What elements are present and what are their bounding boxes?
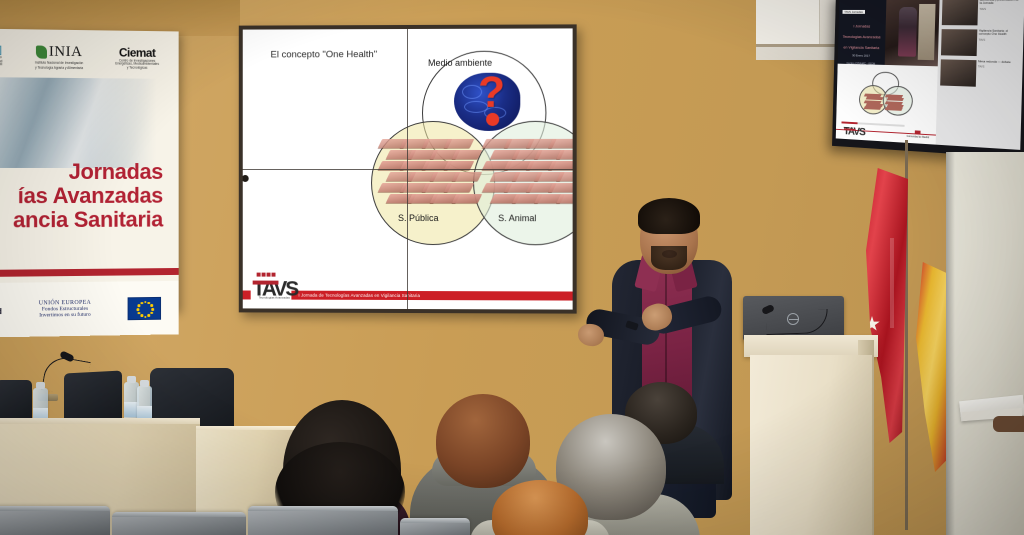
- projection-video-wall[interactable]: El concepto "One Health" Medio ambiente …: [239, 24, 577, 313]
- inia-title: INIA: [49, 44, 83, 61]
- logo-comunidad-de-madrid: Comunidad de Madrid: [0, 293, 2, 327]
- tv-screen: TAVS Jornadas I Jornadas Tecnologías Ava…: [836, 0, 1024, 150]
- tv-playlist-thumbnail: [941, 29, 977, 56]
- tv-hero-badge: TAVS Jornadas: [843, 10, 865, 14]
- auditorium-seat[interactable]: [248, 506, 398, 535]
- tv-hero-title-2: Tecnologías Avanzadas: [842, 34, 882, 39]
- logo-union-europea: UNIÓN EUROPEA Fondos Estructurales Inver…: [39, 300, 91, 319]
- logo-instituto-salud-carlos-iii: ⚄ Instituto de Salud Carlos III: [0, 45, 2, 67]
- tavs-dots-icon: [257, 273, 275, 277]
- tavs-bar-icon: [253, 281, 279, 285]
- video-wall-seam-horizontal: [243, 169, 573, 170]
- madrid-line-1: Comunidad: [0, 306, 2, 316]
- table-microphone[interactable]: [44, 358, 90, 398]
- tavs-sub-1: Tecnologías Avanzadas: [259, 297, 290, 300]
- inia-line-2: y Tecnología Agraria y Alimentaria: [35, 66, 83, 70]
- rollup-banner: ⚄ Instituto de Salud Carlos III INIA Ins…: [0, 29, 179, 314]
- auditorium-seat[interactable]: [400, 518, 470, 535]
- tv-playlist-title: Mesa redonda — debate: [978, 60, 1020, 65]
- bricks-icon-publica: [384, 139, 476, 211]
- tv-playlist-thumbnail: [940, 59, 976, 86]
- slide-title: El concepto "One Health": [271, 49, 378, 60]
- tv-playlist-channel: TAVS: [979, 38, 1021, 42]
- ciemat-line-3: y Tecnológicas: [127, 66, 148, 70]
- venn-label-salud-publica: S. Pública: [398, 213, 439, 223]
- banner-title-line-3: ancia Sanitaria: [0, 207, 163, 232]
- ue-line-3: Invertimos en su futuro: [39, 312, 90, 319]
- tv-playlist-item[interactable]: Bienvenida y presentación de la Jornada …: [941, 0, 1021, 26]
- right-column: [946, 152, 1024, 535]
- eu-flag-icon: [127, 296, 160, 319]
- venn-label-salud-animal: S. Animal: [498, 213, 536, 223]
- venn-diagram: Medio ambiente S. Pública S. Animal ?: [368, 50, 573, 266]
- speaker-beard: [651, 246, 687, 270]
- tv-playlist-channel: TAVS: [979, 8, 1021, 11]
- tv-footer-logo: TAVS: [843, 125, 865, 138]
- logo-ciemat: Ciemat Centro de Investigaciones Energét…: [115, 45, 159, 70]
- tv-player-hero[interactable]: TAVS Jornadas I Jornadas Tecnologías Ava…: [838, 0, 939, 66]
- tv-hero-camera-feed: [884, 0, 939, 66]
- tv-playlist-channel: TAVS: [978, 66, 1020, 70]
- banner-footer: Comunidad de Madrid UNIÓN EUROPEA Fondos…: [0, 281, 179, 338]
- partial-hand: [993, 416, 1024, 432]
- tv-footer-org-label: Comunidad de Madrid: [907, 135, 930, 139]
- speaker-hair: [638, 198, 700, 234]
- video-wall-sensor-icon: [243, 175, 249, 182]
- tv-hero-slide: TAVS Jornadas I Jornadas Tecnologías Ava…: [838, 0, 886, 64]
- auditorium-seat[interactable]: [112, 512, 246, 535]
- tv-playlist-title: Vigilancia Sanitaria: el concepto One He…: [979, 29, 1021, 36]
- slide-footer-tab: [243, 290, 251, 299]
- audience-head: [436, 394, 530, 488]
- slide-surface: El concepto "One Health" Medio ambiente …: [243, 28, 573, 309]
- auditorium-seat[interactable]: [0, 506, 110, 535]
- banner-title-line-2: ías Avanzadas: [0, 184, 163, 208]
- tv-playlist-title: Bienvenida y presentación de la Jornada: [980, 0, 1022, 6]
- tv-slide-panel: TAVS Comunidad de Madrid: [836, 63, 938, 144]
- tv-madrid-mark-icon: [915, 131, 921, 135]
- ciemat-title: Ciemat: [119, 45, 155, 59]
- banner-logo-row: ⚄ Instituto de Salud Carlos III INIA Ins…: [0, 37, 179, 77]
- tv-hero-title-3: en Vigilancia Sanitaria: [842, 45, 882, 51]
- tv-playlist-item[interactable]: Mesa redonda — debate TAVS: [940, 59, 1020, 88]
- webcast-tv-monitor[interactable]: TAVS Jornadas I Jornadas Tecnologías Ava…: [832, 0, 1024, 159]
- tv-playlist-thumbnail: [941, 0, 977, 25]
- ceiling-panel-inner: [756, 0, 820, 46]
- tv-hero-date: 30 Enero 2017: [841, 53, 881, 58]
- tv-playlist-item[interactable]: Vigilancia Sanitaria: el concepto One He…: [941, 29, 1021, 57]
- banner-photo-fade: [90, 78, 179, 168]
- venn-label-medio-ambiente: Medio ambiente: [428, 58, 492, 68]
- tavs-logo: TAVS Tecnologías Avanzadas: [253, 273, 321, 303]
- tv-hero-title-1: I Jornadas: [842, 23, 882, 28]
- brain-question-icon: ?: [454, 73, 520, 131]
- podium-microphone[interactable]: [766, 306, 830, 336]
- right-column-shadow: [946, 152, 955, 535]
- banner-title: Jornadas ías Avanzadas ancia Sanitaria: [0, 160, 179, 232]
- banner-title-line-1: Jornadas: [0, 160, 163, 184]
- conference-room-photo: ⚄ Instituto de Salud Carlos III INIA Ins…: [0, 0, 1024, 535]
- isciii-line-3: Carlos III: [0, 63, 2, 67]
- banner-divider: [0, 268, 179, 277]
- logo-inia: INIA Instituto Nacional de Investigación…: [35, 43, 83, 70]
- podium-body: I Jornadas Tecnologías Avanzadas en Vigi…: [750, 355, 872, 535]
- bricks-icon-animal: [488, 139, 572, 211]
- tv-venn-diagram: [857, 71, 914, 121]
- tv-player-column: TAVS Jornadas I Jornadas Tecnologías Ava…: [836, 0, 939, 145]
- tv-playlist[interactable]: Bienvenida y presentación de la Jornada …: [935, 0, 1024, 150]
- inia-leaf-icon: [36, 45, 47, 58]
- tv-footer-org: Comunidad de Madrid: [907, 130, 930, 139]
